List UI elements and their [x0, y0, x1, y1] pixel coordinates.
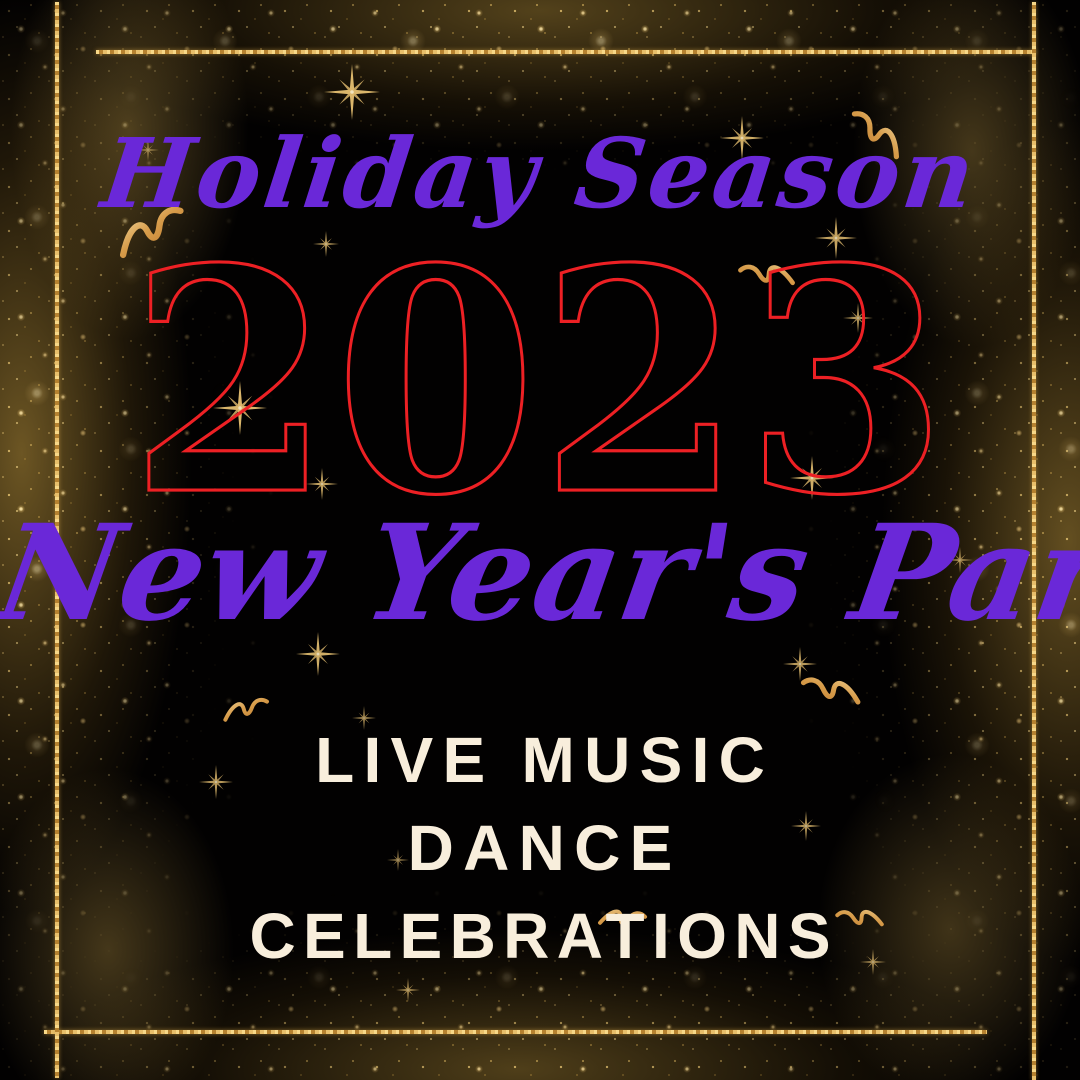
detail-line-live-music: LIVE MUSIC — [0, 728, 1080, 792]
headline-new-years-party: New Year's Party — [0, 508, 1080, 640]
event-details-block: LIVE MUSIC DANCE CELEBRATIONS — [0, 728, 1080, 968]
poster-text-content: Holiday Season 2023 New Year's Party LIV… — [0, 0, 1080, 1080]
headline-year-2023: 2023 — [0, 229, 1080, 536]
poster-canvas: Holiday Season 2023 New Year's Party LIV… — [0, 0, 1080, 1080]
detail-line-dance: DANCE — [0, 816, 1080, 880]
detail-line-celebrations: CELEBRATIONS — [0, 904, 1080, 968]
